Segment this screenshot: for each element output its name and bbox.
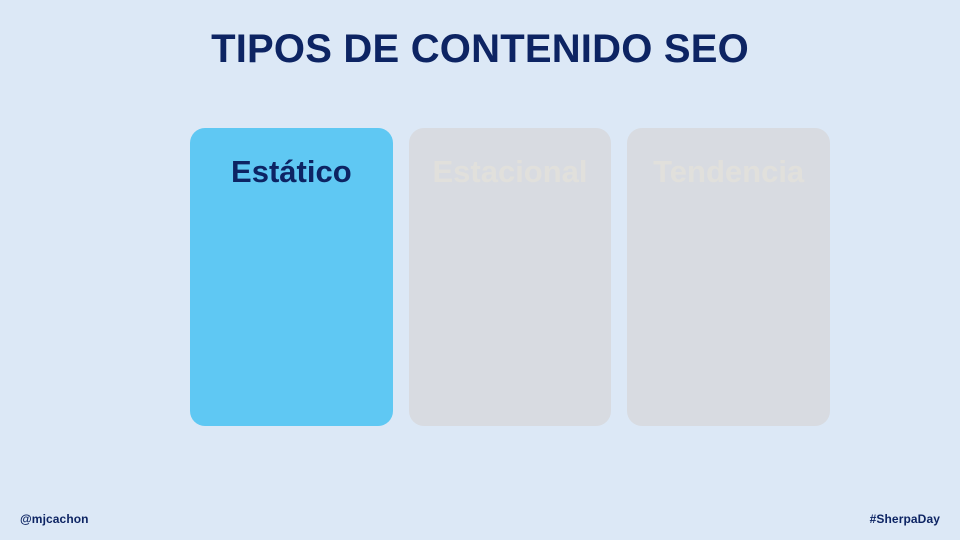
content-type-card-row: Estático Estacional Tendencia — [190, 128, 830, 426]
footer-event-hashtag: #SherpaDay — [870, 512, 940, 526]
content-type-card-tendencia[interactable]: Tendencia — [627, 128, 830, 426]
content-type-card-label: Tendencia — [653, 153, 804, 190]
content-type-card-estatico[interactable]: Estático — [190, 128, 393, 426]
footer-author-handle: @mjcachon — [20, 512, 89, 526]
content-type-card-label: Estacional — [432, 153, 587, 190]
page-title: TIPOS DE CONTENIDO SEO — [0, 26, 960, 73]
slide-canvas: TIPOS DE CONTENIDO SEO Estático Estacion… — [0, 0, 960, 540]
content-type-card-estacional[interactable]: Estacional — [409, 128, 612, 426]
content-type-card-label: Estático — [231, 153, 352, 190]
